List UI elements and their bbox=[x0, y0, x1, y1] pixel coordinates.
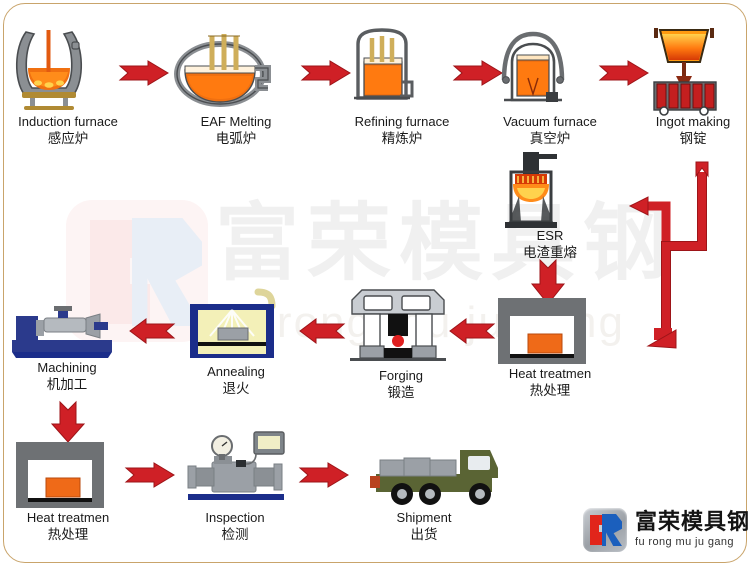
heat-treatment-furnace-icon bbox=[492, 296, 608, 366]
inspection-gauge-icon bbox=[174, 424, 296, 510]
step-label-cn: 钢锭 bbox=[638, 130, 748, 148]
vacuum-furnace-icon bbox=[490, 22, 610, 114]
arrow-heat-treatment-to-inspection bbox=[124, 460, 178, 490]
step-label-en: Refining furnace bbox=[340, 114, 464, 130]
step-label-cn: 电弧炉 bbox=[172, 130, 300, 148]
step-label-cn: 检测 bbox=[174, 526, 296, 544]
step-label-cn: 真空炉 bbox=[490, 130, 610, 148]
brand-chinese-name: 富荣模具钢 bbox=[635, 512, 750, 534]
annealing-furnace-icon bbox=[180, 288, 292, 364]
step-refining-furnace[interactable]: Refining furnace 精炼炉 bbox=[340, 22, 464, 148]
step-label-cn: 出货 bbox=[350, 526, 498, 544]
refining-furnace-icon bbox=[340, 22, 464, 114]
step-label-cn: 精炼炉 bbox=[340, 130, 464, 148]
step-label-en: Inspection bbox=[174, 510, 296, 526]
step-label-en: Forging bbox=[344, 368, 458, 384]
step-label-cn: 感应炉 bbox=[4, 130, 132, 148]
step-heat-treatment-2[interactable]: Heat treatmen 热处理 bbox=[10, 440, 126, 544]
step-label-cn: 热处理 bbox=[10, 526, 126, 544]
forging-press-icon bbox=[344, 286, 458, 368]
step-label-en: Ingot making bbox=[638, 114, 748, 130]
brand-pinyin: fu rong mu ju gang bbox=[635, 536, 750, 549]
brand-logo[interactable]: 富荣模具钢 fu rong mu ju gang bbox=[583, 508, 750, 552]
step-heat-treatment-1[interactable]: Heat treatmen 热处理 bbox=[492, 296, 608, 400]
lathe-machine-icon bbox=[8, 296, 126, 360]
ingot-mold-cart-icon bbox=[638, 18, 748, 114]
step-machining[interactable]: Machining 机加工 bbox=[8, 296, 126, 394]
arrow-machining-to-heat-treatment bbox=[48, 400, 88, 444]
step-label-cn: 机加工 bbox=[8, 376, 126, 394]
step-label-en: ESR bbox=[495, 228, 605, 244]
eaf-furnace-icon bbox=[172, 22, 300, 114]
step-label-cn: 退火 bbox=[180, 380, 292, 398]
step-annealing[interactable]: Annealing 退火 bbox=[180, 288, 292, 398]
step-label-en: Induction furnace bbox=[4, 114, 132, 130]
induction-furnace-icon bbox=[4, 22, 132, 114]
process-flow-diagram: 富荣模具钢 fu rong mu ju gang Induction furna… bbox=[0, 0, 750, 566]
step-label-en: Annealing bbox=[180, 364, 292, 380]
heat-treatment-furnace-icon bbox=[10, 440, 126, 510]
step-esr[interactable]: ESR 电渣重熔 bbox=[495, 152, 605, 262]
connector-ingot-to-esr-and-heat-treatment bbox=[608, 150, 748, 350]
step-vacuum-furnace[interactable]: Vacuum furnace 真空炉 bbox=[490, 22, 610, 148]
delivery-truck-icon bbox=[350, 432, 498, 510]
step-induction-furnace[interactable]: Induction furnace 感应炉 bbox=[4, 22, 132, 148]
step-label-en: Shipment bbox=[350, 510, 498, 526]
fr-logo-icon bbox=[583, 508, 627, 552]
step-label-en: EAF Melting bbox=[172, 114, 300, 130]
step-eaf-melting[interactable]: EAF Melting 电弧炉 bbox=[172, 22, 300, 148]
step-shipment[interactable]: Shipment 出货 bbox=[350, 432, 498, 544]
step-ingot-making[interactable]: Ingot making 钢锭 bbox=[638, 18, 748, 148]
step-label-cn: 锻造 bbox=[344, 384, 458, 402]
esr-furnace-icon bbox=[495, 152, 605, 228]
step-inspection[interactable]: Inspection 检测 bbox=[174, 424, 296, 544]
arrow-induction-to-eaf bbox=[118, 58, 172, 88]
step-label-en: Heat treatmen bbox=[492, 366, 608, 382]
arrow-inspection-to-shipment bbox=[298, 460, 352, 490]
step-forging[interactable]: Forging 锻造 bbox=[344, 286, 458, 402]
watermark-chinese-text: 富荣模具钢 bbox=[215, 196, 675, 290]
step-label-cn: 热处理 bbox=[492, 382, 608, 400]
step-label-en: Heat treatmen bbox=[10, 510, 126, 526]
step-label-en: Machining bbox=[8, 360, 126, 376]
arrow-forging-to-annealing bbox=[298, 316, 346, 346]
arrow-annealing-to-machining bbox=[128, 316, 176, 346]
step-label-en: Vacuum furnace bbox=[490, 114, 610, 130]
